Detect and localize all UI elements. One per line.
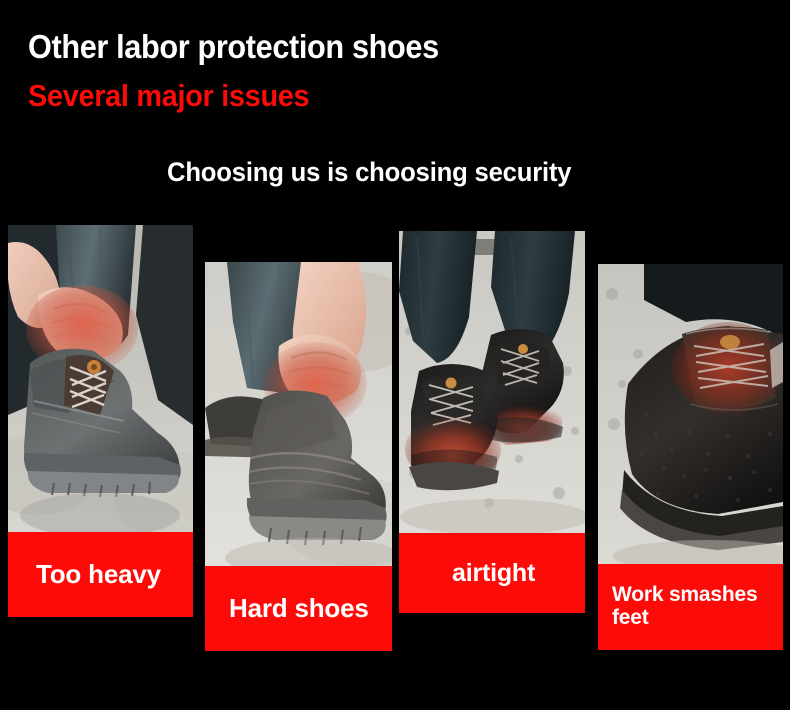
label-text-airtight: airtight (399, 560, 535, 587)
label-text-hard-shoes: Hard shoes (205, 594, 369, 622)
label-text-too-heavy: Too heavy (8, 560, 161, 588)
headline-secondary: Several major issues (28, 78, 309, 114)
photo-hard-shoes (205, 262, 392, 568)
issue-panel-too-heavy (8, 225, 193, 535)
photo-airtight (399, 231, 585, 534)
issue-panel-airtight (399, 231, 585, 534)
label-box-work-smashes-feet: Work smashes feet (598, 564, 783, 650)
photo-too-heavy (8, 225, 193, 535)
label-text-work-smashes-feet: Work smashes feet (598, 584, 757, 629)
issue-panel-hard-shoes (205, 262, 392, 568)
photo-work-smashes-feet (598, 264, 783, 565)
label-box-too-heavy: Too heavy (8, 532, 193, 617)
label-box-airtight: airtight (399, 533, 585, 613)
promo-banner: Other labor protection shoes Several maj… (0, 0, 790, 710)
issue-panel-work-smashes-feet (598, 264, 783, 565)
headline-primary: Other labor protection shoes (28, 28, 439, 66)
page-subtitle: Choosing us is choosing security (167, 157, 571, 188)
label-box-hard-shoes: Hard shoes (205, 566, 392, 651)
